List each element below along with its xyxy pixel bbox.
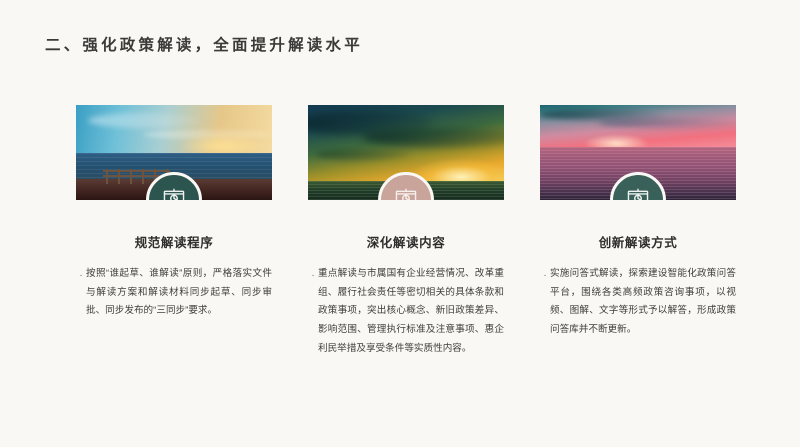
pier-post [142, 169, 144, 184]
card-title: 深化解读内容 [308, 232, 504, 251]
card-body-text: 重点解读与市属国有企业经营情况、改革重组、履行社会责任等密切相关的具体条款和政策… [318, 265, 504, 359]
card-body-text: 实施问答式解读，探索建设智能化政策问答平台，围绕各类高频政策咨询事项，以视频、图… [550, 265, 736, 340]
card-group: 规范解读程序 · 按照“谁起草、谁解读”原则，严格落实文件与解读方案和解读材料同… [0, 0, 800, 447]
cloud-shape [316, 149, 410, 160]
bullet-marker: · [76, 265, 86, 286]
card-bullet: · 按照“谁起草、谁解读”原则，严格落实文件与解读方案和解读材料同步起草、同步审… [76, 265, 272, 321]
slide-root: 二、强化政策解读，全面提升解读水平 [0, 0, 800, 447]
pier-rail [103, 170, 170, 172]
content-card: 深化解读内容 · 重点解读与市属国有企业经营情况、改革重组、履行社会责任等密切相… [308, 105, 504, 359]
cloud-shape [363, 128, 504, 147]
card-image [540, 105, 736, 200]
pier-post [118, 169, 120, 184]
card-image [308, 105, 504, 200]
card-bullet: · 重点解读与市属国有企业经营情况、改革重组、履行社会责任等密切相关的具体条款和… [308, 265, 504, 359]
card-bullet: · 实施问答式解读，探索建设智能化政策问答平台，围绕各类高频政策咨询事项，以视频… [540, 265, 736, 340]
bullet-marker: · [308, 265, 318, 286]
card-title: 规范解读程序 [76, 232, 272, 251]
cloud-shape [88, 113, 202, 128]
card-image [76, 105, 272, 200]
content-card: 规范解读程序 · 按照“谁起草、谁解读”原则，严格落实文件与解读方案和解读材料同… [76, 105, 272, 321]
card-title: 创新解读方式 [540, 232, 736, 251]
card-body-text: 按照“谁起草、谁解读”原则，严格落实文件与解读方案和解读材料同步起草、同步审批、… [86, 265, 272, 321]
pier-post [130, 169, 132, 184]
bullet-marker: · [540, 265, 550, 286]
pier-post [106, 169, 108, 184]
cloud-shape [599, 118, 736, 128]
content-card: 创新解读方式 · 实施问答式解读，探索建设智能化政策问答平台，围绕各类高频政策咨… [540, 105, 736, 340]
